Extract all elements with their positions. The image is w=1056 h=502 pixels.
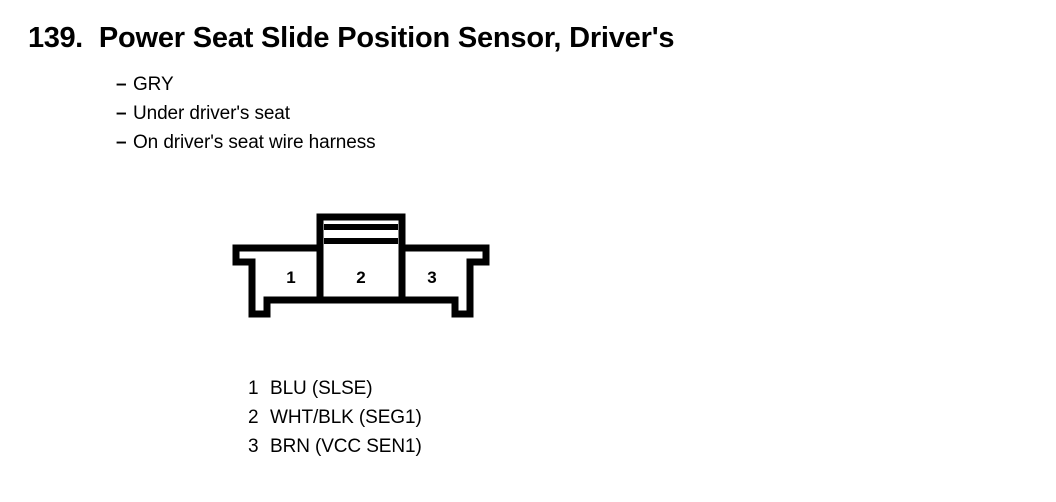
legend-pin-number: 3 bbox=[248, 436, 270, 458]
connector-outline-svg: 1 2 3 bbox=[225, 200, 505, 335]
note-list: – GRY – Under driver's seat – On driver'… bbox=[116, 74, 376, 161]
note-label: On driver's seat wire harness bbox=[133, 132, 376, 154]
page-title: 139. Power Seat Slide Position Sensor, D… bbox=[28, 22, 674, 55]
legend-pin-description: BRN (VCC SEN1) bbox=[270, 436, 422, 458]
cavity-number-1: 1 bbox=[286, 268, 295, 287]
list-item: 1 BLU (SLSE) bbox=[248, 378, 422, 407]
note-label: Under driver's seat bbox=[133, 103, 290, 125]
list-item: 2 WHT/BLK (SEG1) bbox=[248, 407, 422, 436]
legend-pin-number: 2 bbox=[248, 407, 270, 429]
page-title-text: Power Seat Slide Position Sensor, Driver… bbox=[99, 22, 674, 55]
connector-body-outline bbox=[236, 217, 486, 314]
page-title-number: 139. bbox=[28, 22, 83, 55]
legend-pin-number: 1 bbox=[248, 378, 270, 400]
list-item: 3 BRN (VCC SEN1) bbox=[248, 436, 422, 465]
legend-pin-description: BLU (SLSE) bbox=[270, 378, 372, 400]
cavity-number-2: 2 bbox=[356, 268, 365, 287]
cavity-number-3: 3 bbox=[427, 268, 436, 287]
dash-bullet-icon: – bbox=[116, 132, 133, 154]
list-item: – On driver's seat wire harness bbox=[116, 132, 376, 161]
legend-pin-description: WHT/BLK (SEG1) bbox=[270, 407, 422, 429]
note-label: GRY bbox=[133, 74, 174, 96]
list-item: – Under driver's seat bbox=[116, 103, 376, 132]
dash-bullet-icon: – bbox=[116, 103, 133, 125]
dash-bullet-icon: – bbox=[116, 74, 133, 96]
list-item: – GRY bbox=[116, 74, 376, 103]
pin-legend: 1 BLU (SLSE) 2 WHT/BLK (SEG1) 3 BRN (VCC… bbox=[248, 378, 422, 465]
connector-diagram: 1 2 3 bbox=[225, 200, 505, 335]
